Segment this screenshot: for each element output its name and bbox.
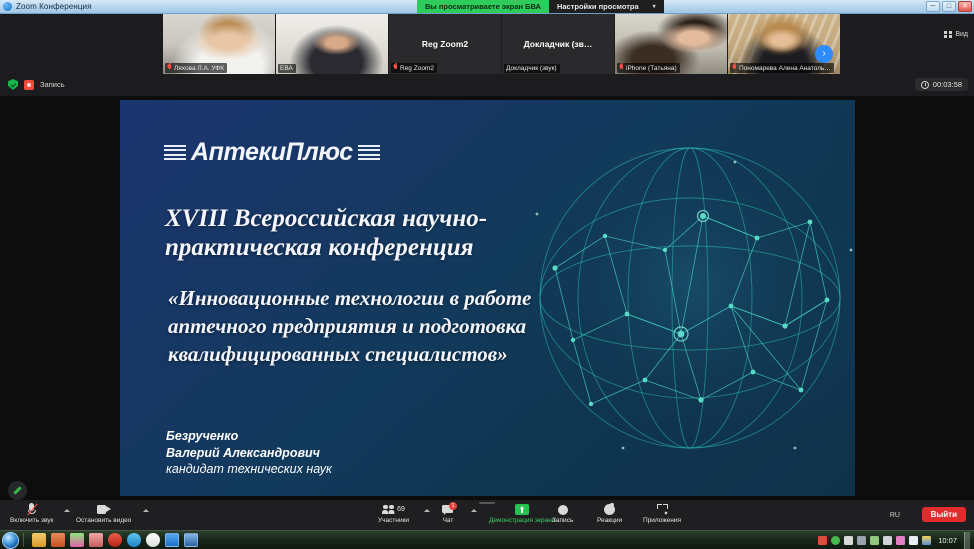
system-tray: 10:07 <box>818 532 974 549</box>
window-title: Zoom Конференция <box>16 2 92 11</box>
participant-name: iPhone (Татьяна) <box>626 65 677 72</box>
slide-title: XVIII Всероссийская научно-практическая … <box>165 204 565 262</box>
participant-tile[interactable]: Ляхова Л.А. УФК <box>163 14 275 74</box>
share-banner: Вы просматриваете экран БВА Настройки пр… <box>417 0 664 13</box>
participant-namebar: iPhone (Татьяна) <box>617 63 680 73</box>
explorer-icon[interactable] <box>32 533 46 547</box>
maximize-button[interactable]: □ <box>942 1 956 12</box>
meeting-status-strip: Запись 00:03:58 <box>0 74 974 96</box>
participant-tile[interactable]: iPhone (Татьяна) <box>615 14 727 74</box>
tray-recorder-icon[interactable] <box>818 536 827 545</box>
taskbar-divider <box>23 533 24 547</box>
participant-namebar: Ляхова Л.А. УФК <box>165 63 227 73</box>
share-screen-icon <box>515 503 529 516</box>
participant-name: Ляхова Л.А. УФК <box>174 65 224 72</box>
presenter-name: Валерий Александрович <box>166 445 332 462</box>
logo-left-bars-icon <box>164 144 186 161</box>
zoom-taskbar-icon[interactable] <box>165 533 179 547</box>
participants-count: 69 <box>397 506 405 513</box>
participants-caret-icon[interactable] <box>424 509 430 512</box>
grid-view-icon <box>944 31 952 38</box>
participant-namebar: Reg Zoom2 <box>391 63 437 73</box>
reactions-button[interactable]: Реакции <box>597 503 622 524</box>
participant-name: ЕВА <box>280 65 293 72</box>
reactions-label: Реакции <box>597 517 622 524</box>
participant-filmstrip: Ляхова Л.А. УФК ЕВА Reg Zoom2 Reg Zoom2 … <box>0 14 974 74</box>
share-screen-button[interactable]: Демонстрация экрана <box>489 503 555 524</box>
unmute-label: Включить звук <box>10 517 53 524</box>
taskbar-apps <box>32 533 198 547</box>
tray-usb-icon[interactable] <box>883 536 892 545</box>
start-button[interactable] <box>2 532 19 549</box>
brand-logo: АптекиПлюс <box>164 138 380 167</box>
annotate-button[interactable] <box>8 481 27 500</box>
taskbar-clock[interactable]: 10:07 <box>935 536 960 545</box>
audio-options-caret-icon[interactable] <box>64 509 70 512</box>
tray-printer-icon[interactable] <box>857 536 866 545</box>
tray-action-center-icon[interactable] <box>922 536 931 545</box>
minimize-button[interactable]: ─ <box>926 1 940 12</box>
slide-subtitle: «Инновационные технологии в работе аптеч… <box>168 284 568 368</box>
tray-sync-icon[interactable] <box>831 536 840 545</box>
window-controls[interactable]: ─ □ ✕ <box>926 1 972 12</box>
media-player-icon[interactable] <box>70 533 84 547</box>
stop-video-button[interactable]: Остановить видео <box>76 503 131 524</box>
record-label: Запись <box>552 517 573 524</box>
presenter-block: Безрученко Валерий Александрович кандида… <box>166 428 332 478</box>
view-settings-label: Настройки просмотра <box>557 2 639 11</box>
view-settings-button[interactable]: Настройки просмотра ▾ <box>549 0 664 13</box>
chat-button[interactable]: 1 Чат <box>442 503 454 524</box>
telegram-icon[interactable] <box>127 533 141 547</box>
participant-namebar: Пономарева Алена Анатоль… <box>730 63 834 73</box>
participant-tiles: Ляхова Л.А. УФК ЕВА Reg Zoom2 Reg Zoom2 … <box>163 14 841 74</box>
timer-value: 00:03:58 <box>933 80 962 89</box>
show-desktop-button[interactable] <box>964 532 970 549</box>
participant-namebar: Докладчик (звук) <box>504 64 560 73</box>
word-taskbar-icon[interactable] <box>184 533 198 547</box>
participant-tile[interactable]: Reg Zoom2 Reg Zoom2 <box>389 14 501 74</box>
logo-text: АптекиПлюс <box>191 138 353 167</box>
encryption-shield-icon[interactable] <box>8 79 18 90</box>
logo-right-bars-icon <box>358 144 380 161</box>
participant-name: Докладчик (звук) <box>506 65 557 72</box>
chat-unread-badge: 1 <box>449 502 457 510</box>
participants-label: Участники <box>378 517 409 524</box>
presenter-surname: Безрученко <box>166 428 332 445</box>
presentation-slide: АптекиПлюс XVIII Всероссийская научно-пр… <box>120 100 855 496</box>
windows-taskbar: 10:07 <box>0 530 974 549</box>
opera-icon[interactable] <box>108 533 122 547</box>
camera-icon <box>97 503 111 516</box>
language-indicator: RU <box>890 512 900 519</box>
participant-name: Пономарева Алена Анатоль… <box>739 65 831 72</box>
yandex-browser-icon[interactable] <box>146 533 160 547</box>
video-options-caret-icon[interactable] <box>143 509 149 512</box>
zoom-app-icon <box>3 2 12 11</box>
close-button[interactable]: ✕ <box>958 1 972 12</box>
participant-tile[interactable]: ЕВА <box>276 14 388 74</box>
tray-messenger-icon[interactable] <box>896 536 905 545</box>
share-status-label: Вы просматриваете экран БВА <box>417 0 549 13</box>
stop-video-label: Остановить видео <box>76 517 131 524</box>
view-label: Вид <box>955 31 968 38</box>
chat-label: Чат <box>443 517 454 524</box>
mic-muted-icon <box>619 64 624 72</box>
mic-muted-icon <box>26 503 37 516</box>
chat-icon: 1 <box>442 503 454 516</box>
participant-tile[interactable]: Пономарева Алена Анатоль… <box>728 14 840 74</box>
leave-meeting-button[interactable]: Выйти <box>922 507 966 522</box>
chat-caret-icon[interactable] <box>471 509 477 512</box>
record-button[interactable]: Запись <box>552 503 573 524</box>
zoom-toolbar: Включить звук Остановить видео 69 Участн… <box>0 500 974 530</box>
participant-tile[interactable]: Докладчик (зв… Докладчик (звук) <box>502 14 614 74</box>
share-screen-label: Демонстрация экрана <box>489 517 555 524</box>
apps-button[interactable]: Приложения <box>643 503 681 524</box>
photo-viewer-icon[interactable] <box>89 533 103 547</box>
participants-icon: 69 <box>382 503 405 516</box>
presenter-degree: кандидат технических наук <box>166 461 332 478</box>
participant-name: Reg Zoom2 <box>400 65 434 72</box>
apps-label: Приложения <box>643 517 681 524</box>
record-icon <box>558 503 568 516</box>
tray-volume-icon[interactable] <box>909 536 918 545</box>
mic-muted-icon <box>167 64 172 72</box>
recording-indicator[interactable]: Запись <box>8 79 65 90</box>
tray-network-icon[interactable] <box>870 536 879 545</box>
filmstrip-next-button[interactable]: › <box>815 45 833 63</box>
chevron-down-icon: ▾ <box>653 3 656 10</box>
view-layout-button[interactable]: Вид <box>944 31 968 38</box>
powerpoint-icon[interactable] <box>51 533 65 547</box>
recording-icon[interactable] <box>24 80 34 90</box>
mic-muted-icon <box>393 64 398 72</box>
shared-screen-area: АптекиПлюс XVIII Всероссийская научно-пр… <box>0 96 974 500</box>
participant-namebar: ЕВА <box>278 64 296 73</box>
clock-icon <box>921 81 929 89</box>
mic-muted-icon <box>732 64 737 72</box>
unmute-button[interactable]: Включить звук <box>10 503 53 524</box>
recording-label: Запись <box>40 80 65 89</box>
participants-button[interactable]: 69 Участники <box>378 503 409 524</box>
reactions-icon <box>604 503 615 516</box>
pen-icon <box>13 486 21 494</box>
meeting-timer: 00:03:58 <box>915 78 968 91</box>
screen-root: Zoom Конференция ─ □ ✕ Вы просматриваете… <box>0 0 974 549</box>
apps-icon <box>657 503 668 516</box>
tray-antivirus-icon[interactable] <box>844 536 853 545</box>
